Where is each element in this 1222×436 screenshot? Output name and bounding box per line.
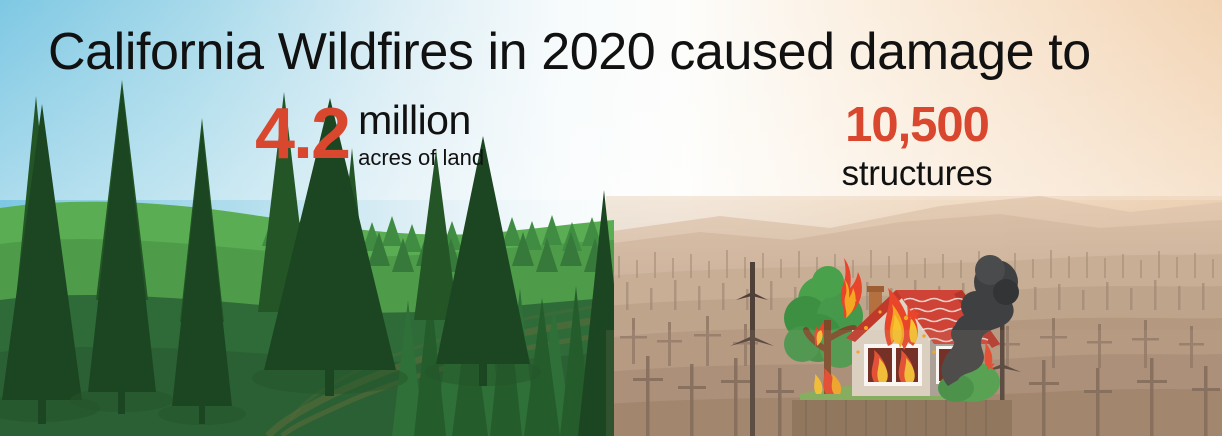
- wildfire-illustration: [0, 0, 1222, 436]
- wildfire-infographic: California Wildfires in 2020 caused dama…: [0, 0, 1222, 436]
